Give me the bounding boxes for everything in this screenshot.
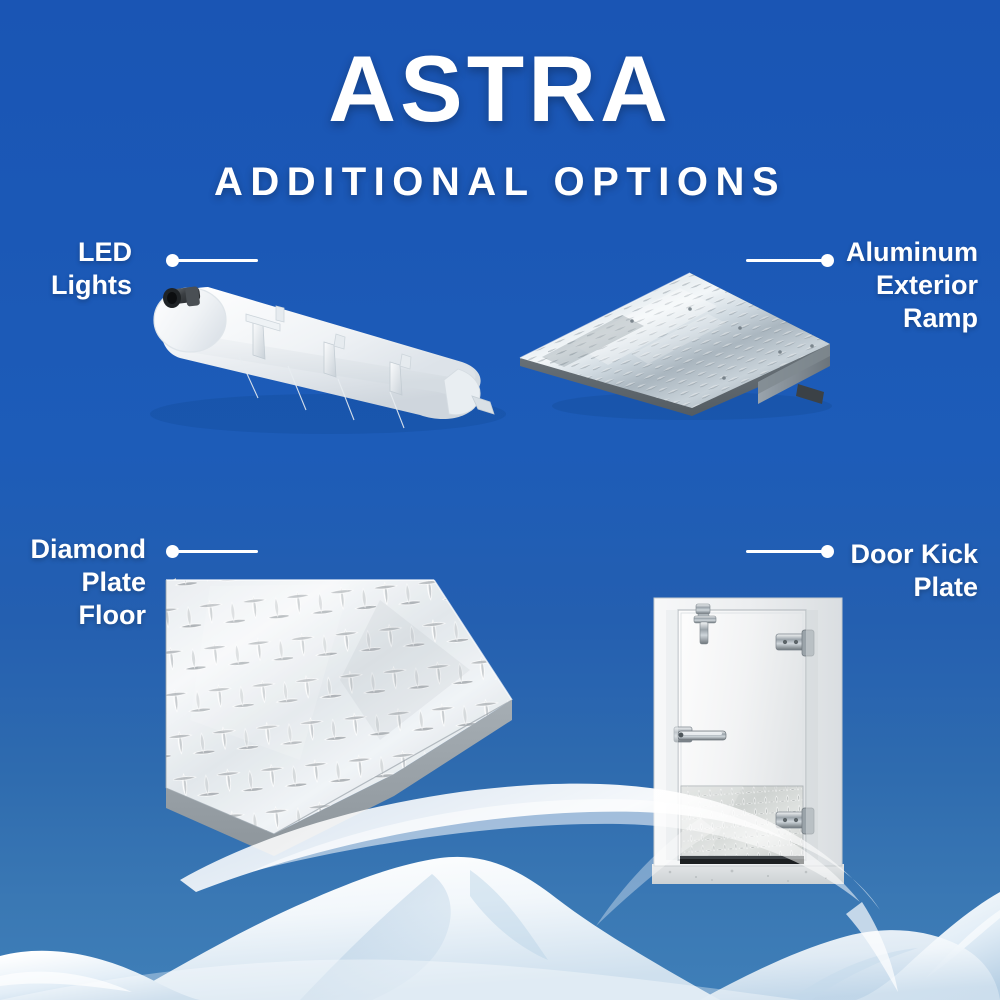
product-image-led-light-fixture: [128, 262, 528, 457]
callout-label-led-lights: LED Lights: [0, 236, 132, 302]
leader-line-diamond-plate-floor: [166, 544, 258, 558]
poster-heading: ASTRA ADDITIONAL OPTIONS: [0, 0, 1000, 202]
snow-ice-mountain-graphic: [0, 760, 1000, 1000]
leader-rule: [746, 550, 828, 553]
callout-door-kick-plate: Door Kick Plate: [846, 538, 1000, 604]
poster-canvas: ASTRA ADDITIONAL OPTIONS LED Lights: [0, 0, 1000, 1000]
leader-dot-icon: [821, 545, 834, 558]
page-title: ASTRA: [0, 0, 1000, 136]
leader-line-aluminum-exterior-ramp: [746, 253, 834, 267]
callout-label-diamond-plate-floor: Diamond Plate Floor: [0, 533, 146, 632]
page-subtitle: ADDITIONAL OPTIONS: [0, 136, 1000, 202]
leader-rule: [746, 259, 828, 262]
callout-label-door-kick-plate: Door Kick Plate: [846, 538, 1000, 604]
leader-line-door-kick-plate: [746, 544, 834, 558]
leader-rule: [172, 550, 258, 553]
callout-label-aluminum-exterior-ramp: Aluminum Exterior Ramp: [846, 236, 1000, 335]
callout-aluminum-exterior-ramp: Aluminum Exterior Ramp: [846, 236, 1000, 335]
callout-diamond-plate-floor: Diamond Plate Floor: [0, 533, 146, 632]
callout-led-lights: LED Lights: [0, 236, 132, 302]
product-image-aluminum-exterior-ramp: [512, 266, 842, 426]
